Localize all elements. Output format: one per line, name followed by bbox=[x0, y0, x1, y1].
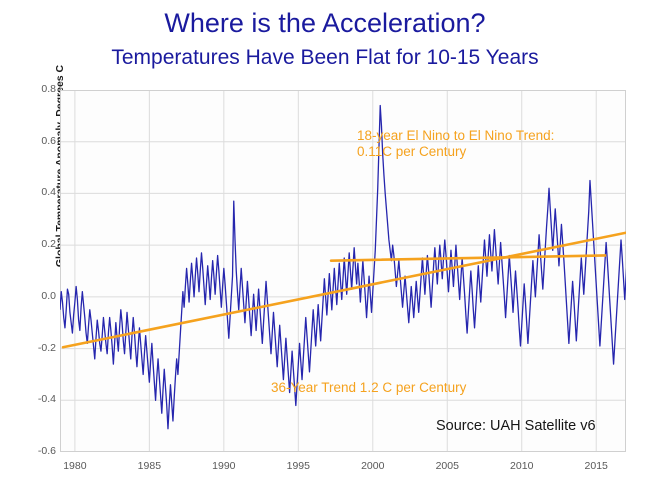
x-tick-label: 2005 bbox=[424, 461, 470, 472]
annotation-18-year-line1: 18-year El Nino to El Nino Trend: bbox=[357, 128, 554, 144]
chart-page: Where is the Acceleration? Temperatures … bbox=[0, 0, 650, 488]
annotation-18-year-line2: 0.11C per Century bbox=[357, 144, 554, 160]
x-tick-label: 1985 bbox=[126, 461, 172, 472]
annotation-36-year-trend: 36-Year Trend 1.2 C per Century bbox=[271, 380, 466, 396]
x-tick-label: 2015 bbox=[573, 461, 619, 472]
x-tick-label: 1980 bbox=[52, 461, 98, 472]
annotation-18-year-trend: 18-year El Nino to El Nino Trend: 0.11C … bbox=[357, 128, 554, 160]
x-tick-label: 1990 bbox=[201, 461, 247, 472]
source-label: Source: UAH Satellite v6 bbox=[436, 418, 596, 434]
x-tick-label: 2010 bbox=[499, 461, 545, 472]
x-tick-label: 1995 bbox=[275, 461, 321, 472]
x-tick-label: 2000 bbox=[350, 461, 396, 472]
